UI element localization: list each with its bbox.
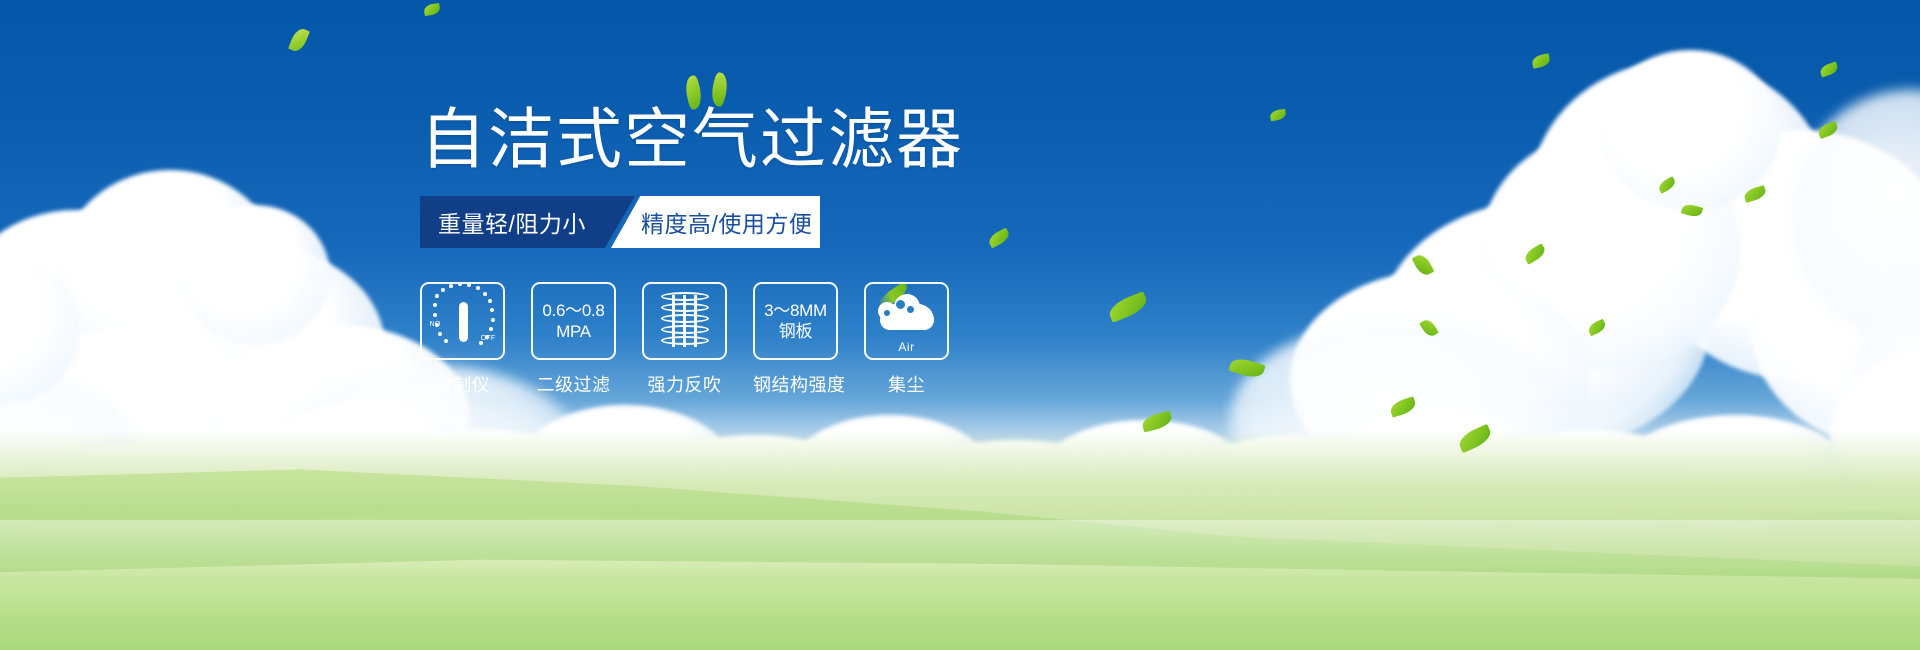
leaf-decor [1456, 424, 1494, 453]
feature-icon-box: 0.6～0.8 MPA [531, 282, 616, 360]
feature-item-dust[interactable]: Air 集尘 [864, 282, 949, 397]
cloud-right-large [1230, 20, 1920, 490]
feature-label: 控制仪 [420, 371, 505, 397]
leaf-decor [1819, 61, 1840, 77]
feature-label: 二级过滤 [531, 371, 616, 397]
gauge-off-label: OFF [481, 335, 496, 342]
title-sprout-leaves-icon [686, 72, 736, 112]
grass-left-ridge [0, 440, 1920, 650]
feature-icon-box: 3～8MM 钢板 [753, 282, 838, 360]
leaf-decor [1388, 396, 1417, 417]
feature-label: 集尘 [864, 371, 949, 397]
leaf-decor [1743, 185, 1767, 203]
leaf-decor [1531, 53, 1551, 68]
subtitle-left-text: 重量轻/阻力小 [438, 205, 586, 239]
gauge-needle-icon [459, 302, 468, 342]
pressure-text-icon: 0.6～0.8 MPA [542, 300, 604, 342]
feature-item-steel[interactable]: 3～8MM 钢板 钢结构强度 [753, 282, 838, 397]
leaf-left-icon [682, 75, 706, 111]
leaf-decor [1269, 109, 1286, 122]
feature-label: 钢结构强度 [753, 371, 838, 397]
horizon-haze [0, 400, 1920, 510]
product-banner: 自洁式空气过滤器 重量轻/阻力小 精度高/使用方便 [0, 0, 1920, 650]
air-label: Air [874, 340, 940, 354]
leaf-decor [1141, 411, 1174, 433]
filter-coil-icon [661, 291, 709, 351]
leaf-decor [1681, 202, 1703, 218]
subtitle-badge-left: 重量轻/阻力小 [420, 196, 635, 248]
grass-foreground [0, 545, 1920, 650]
air-cloud-icon: Air [874, 290, 940, 352]
leaf-decor [423, 3, 440, 16]
leaf-decor [1817, 121, 1840, 139]
feature-icon-box: NO OFF [420, 282, 505, 360]
leaf-decor [1419, 317, 1439, 339]
feature-label: 强力反吹 [642, 371, 727, 397]
banner-content: 自洁式空气过滤器 重量轻/阻力小 精度高/使用方便 [420, 100, 1120, 397]
leaf-decor [1657, 176, 1678, 194]
subtitle-right-text: 精度高/使用方便 [641, 205, 812, 239]
leaf-right-icon [708, 72, 732, 108]
feature-list: NO OFF 控制仪 0.6～0.8 MPA 二级过滤 [420, 282, 1120, 397]
gauge-on-label: NO [430, 321, 441, 328]
page-title: 自洁式空气过滤器 [420, 100, 1120, 178]
steel-plate-text-icon: 3～8MM 钢板 [764, 300, 827, 342]
leaf-decor [1587, 319, 1608, 337]
subtitle-badge-right: 精度高/使用方便 [611, 196, 820, 248]
feature-item-controller[interactable]: NO OFF 控制仪 [420, 282, 505, 397]
leaf-decor [1228, 355, 1265, 381]
grass-light-sheen [0, 520, 1920, 650]
leaf-decor [1522, 243, 1547, 264]
title-row: 自洁式空气过滤器 [420, 100, 1120, 178]
feature-icon-box: Air [864, 282, 949, 360]
grass-mid-band [0, 495, 1920, 650]
leaf-decor [288, 26, 310, 53]
feature-item-pressure[interactable]: 0.6～0.8 MPA 二级过滤 [531, 282, 616, 397]
feature-icon-box [642, 282, 727, 360]
leaf-decor [1412, 252, 1435, 278]
grass-far-hill [0, 430, 1920, 650]
feature-item-backblow[interactable]: 强力反吹 [642, 282, 727, 397]
gauge-icon: NO OFF [430, 290, 496, 352]
subtitle-row: 重量轻/阻力小 精度高/使用方便 [420, 196, 820, 248]
